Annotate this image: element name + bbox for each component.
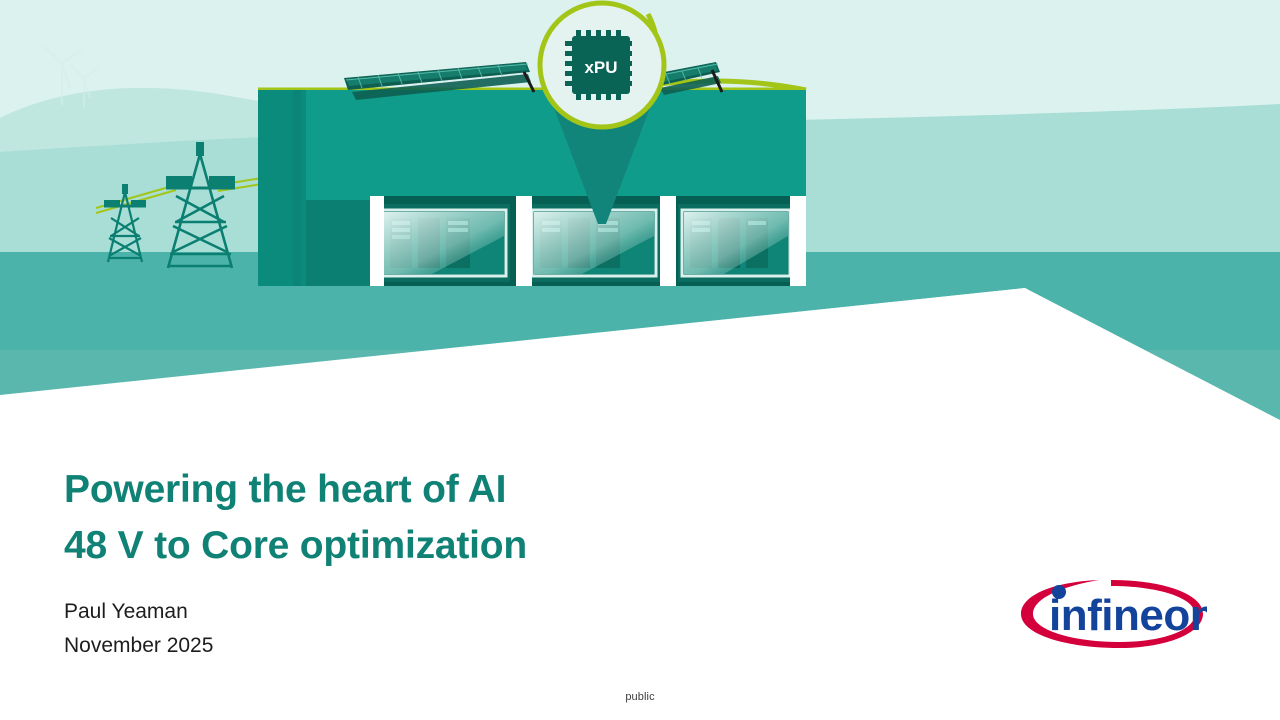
logo-i-dot [1052,585,1066,599]
presentation-slide: xPU Powering the heart of AI 48 V to Cor… [0,0,1280,720]
building-pillar [790,196,806,286]
presenter-meta: Paul Yeaman November 2025 [64,595,213,663]
classification-label: public [0,691,1280,703]
building-column-shadow [293,90,301,286]
hero-illustration: xPU [0,0,1280,432]
title-line-1: Powering the heart of AI [64,462,864,518]
presentation-date: November 2025 [64,629,213,663]
building-pillar [660,196,676,286]
window-bay-group [378,204,794,282]
building-pillar [516,196,532,286]
infineon-logo: infineon [1015,568,1207,660]
building-pillar [370,196,384,286]
presenter-name: Paul Yeaman [64,595,213,629]
page-title: Powering the heart of AI 48 V to Core op… [64,462,864,574]
title-line-2: 48 V to Core optimization [64,518,864,574]
xpu-chip-icon: xPU [565,30,632,100]
logo-wordmark: infineon [1049,591,1207,640]
hero-illustration-svg: xPU [0,0,1280,432]
infineon-logo-svg: infineon [1015,568,1207,660]
chip-label: xPU [584,58,617,77]
